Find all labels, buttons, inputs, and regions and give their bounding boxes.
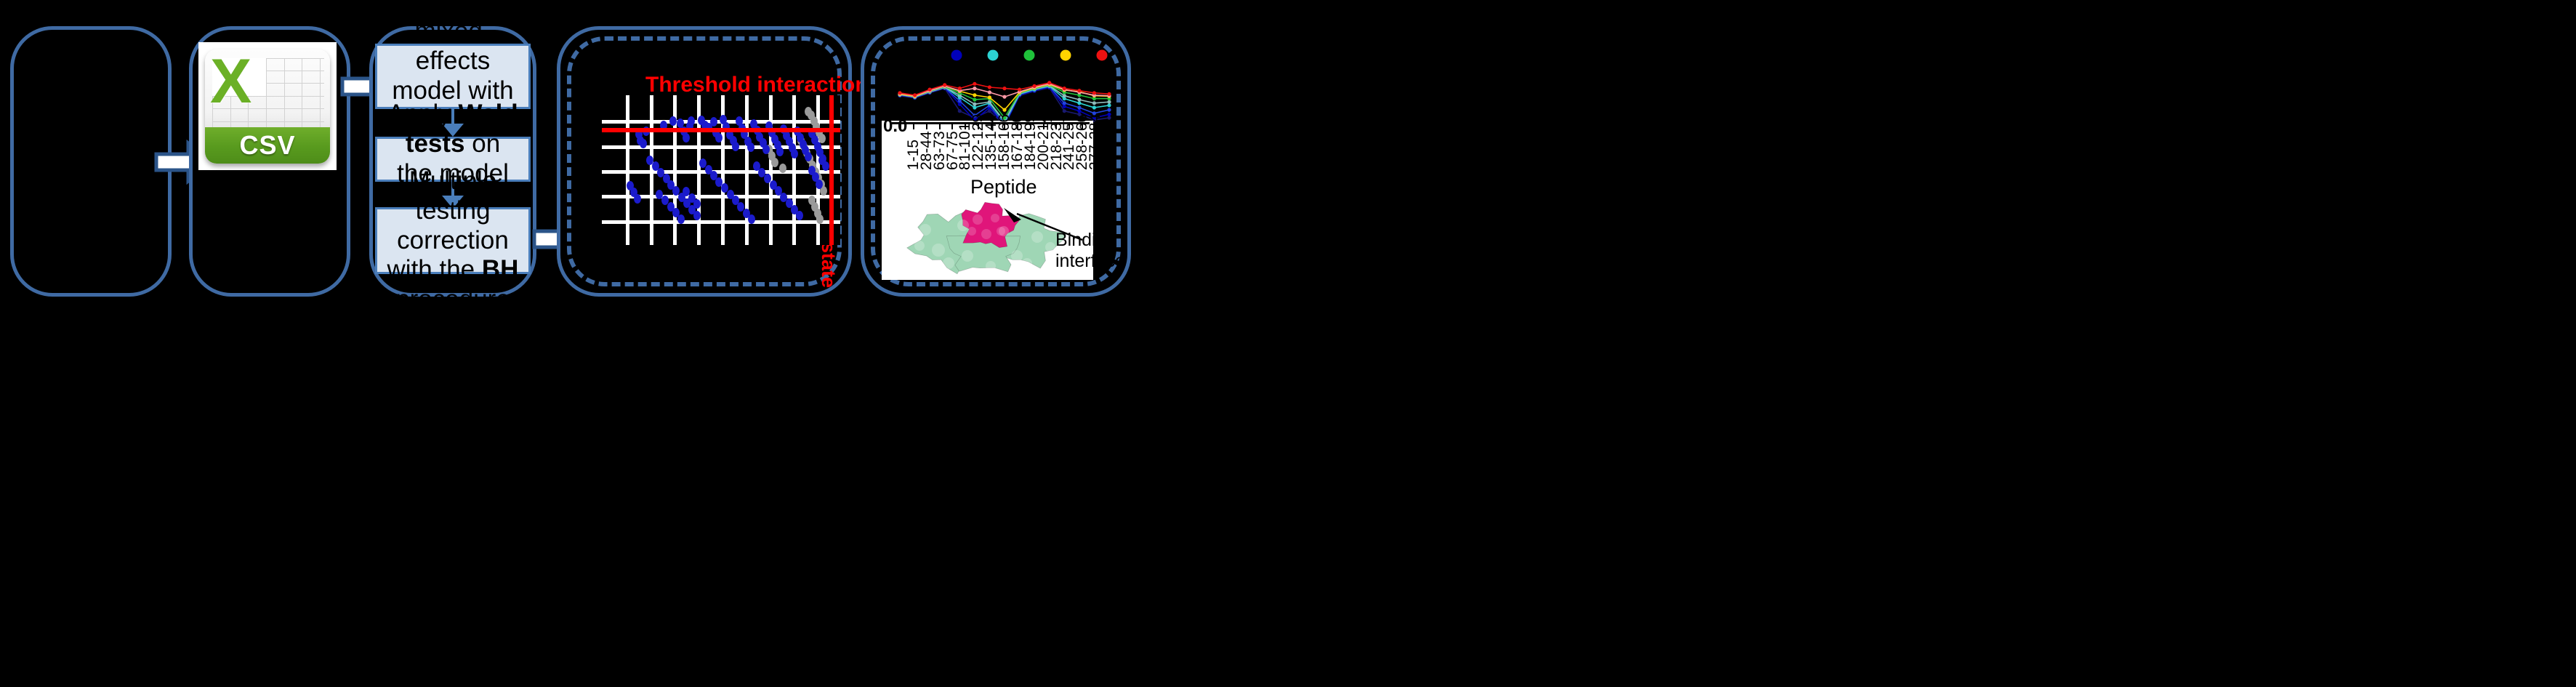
line-series-marker [1063,87,1066,90]
scatter-point-significant [640,139,647,148]
line-series-marker [1063,101,1066,105]
scatter-point-significant [688,116,695,126]
protein-surface-bump [1011,250,1023,262]
line-series-marker [1018,88,1021,92]
binding-interface-label: Binding interface [1055,230,1099,272]
scatter-point-nonsignificant [771,158,778,167]
line-series-marker [1107,108,1111,112]
scatter-point-significant [762,145,770,154]
line-series-marker [988,90,991,94]
protein-surface-bump [962,250,973,262]
peptide-surface-bump [981,229,991,239]
grid-line-vertical [650,95,653,245]
csv-file-icon[interactable]: X CSV [205,49,330,164]
grid-line-vertical [792,95,796,245]
csv-icon-plate: X CSV [198,42,337,170]
legend-dot-state-1[interactable] [951,50,962,61]
line-series-marker [1063,109,1066,113]
legend-dot-state-5[interactable] [1097,50,1108,61]
line-series-marker [1077,109,1081,113]
line-series-marker [1002,95,1006,99]
x-axis-tick [900,124,901,129]
scatter-point-significant [747,142,754,152]
grid-line-vertical [769,95,773,245]
line-series-marker [1107,100,1111,104]
protein-surface-bump [1022,258,1032,268]
line-series-marker [1063,94,1066,97]
scatter-point-significant [805,152,812,161]
line-series-marker [943,83,946,87]
line-series-marker [1107,92,1111,96]
line-series-marker [973,98,976,102]
scatter-point-significant [634,194,641,204]
threshold-state-line [829,95,834,245]
line-series-marker [1107,113,1111,116]
x-axis-tick [926,124,927,129]
line-series-marker [988,85,991,89]
scatter-point-significant [732,142,739,151]
protein-surface-bump [914,241,925,251]
csv-label-band: CSV [205,127,330,164]
scatter-point-significant [796,211,803,220]
line-series-marker [1092,105,1096,109]
line-series-marker [1002,87,1006,90]
step-box-bh[interactable]: Multiple testingcorrectionwith the BH pr… [375,207,531,274]
flow-diagram-canvas: X CSV Fit a linear mixed-effects model w… [0,0,2576,687]
line-series-marker [1077,105,1081,109]
line-series-marker [1077,101,1081,105]
line-series-marker [1092,101,1096,105]
line-series-marker [973,103,976,106]
line-series-marker [958,109,962,113]
x-axis-tick [951,124,953,129]
line-series-marker [1092,91,1096,95]
x-axis-tick [913,124,914,129]
volcano-scatter-chart: Threshold interaction Threshold state [574,44,834,279]
line-series-marker [958,99,962,103]
scatter-point-significant [693,211,701,220]
legend-dot-state-2[interactable] [988,50,999,61]
line-series-marker [1063,105,1066,108]
line-series-marker [988,95,991,99]
x-axis-tick [939,124,941,129]
protein-surface-bump [919,224,931,236]
peptide-surface-bump [973,214,983,225]
y-axis-tick-0: 0.0 [883,116,907,137]
line-series-marker [1033,84,1037,88]
scatter-point-significant [816,180,823,189]
line-series-marker [973,87,976,90]
input-stage-panel [10,26,172,297]
line-series-marker [1107,116,1111,119]
line-series-marker [928,88,932,92]
x-axis-tick-label: 277-284 [1087,114,1104,170]
legend-dot-state-3[interactable] [1024,50,1035,61]
scatter-point-significant [791,149,798,158]
line-series-marker [898,91,901,95]
grid-line-vertical [745,95,749,245]
scatter-point-significant [776,147,784,156]
scatter-point-significant [683,133,690,142]
line-series-marker [1077,89,1081,92]
csv-label: CSV [239,130,295,161]
step-box-bh-label: Multiple testingcorrectionwith the BH pr… [377,166,528,316]
line-series-marker [973,93,976,97]
legend-dot-state-4[interactable] [1060,50,1071,61]
protein-surface-bump [943,257,954,269]
protein-surface-bump [932,244,945,257]
protein-surface-bump [903,236,912,244]
line-series-marker [1047,81,1051,84]
line-series-marker [1077,98,1081,102]
scatter-point-significant [710,117,717,126]
excel-x-glyph: X [210,52,249,112]
threshold-interaction-line [602,128,840,132]
line-series-marker [913,93,917,97]
peptide-structure-card: 0.0 1-1528-4463-7367-7581-101122-129135-… [882,121,1093,280]
line-series-marker [973,105,976,109]
peptide-surface-bump [967,227,976,236]
protein-surface-bump [957,220,969,231]
line-series-marker [958,87,962,90]
grid-line-vertical [626,95,629,245]
line-series-marker [1002,108,1006,112]
scatter-title: Threshold interaction [645,73,869,97]
protein-surface-bump [986,261,996,271]
scatter-point-significant [822,161,829,171]
line-series-marker [973,82,976,86]
scatter-plot-area[interactable] [602,95,840,245]
line-series-marker [1107,103,1111,107]
